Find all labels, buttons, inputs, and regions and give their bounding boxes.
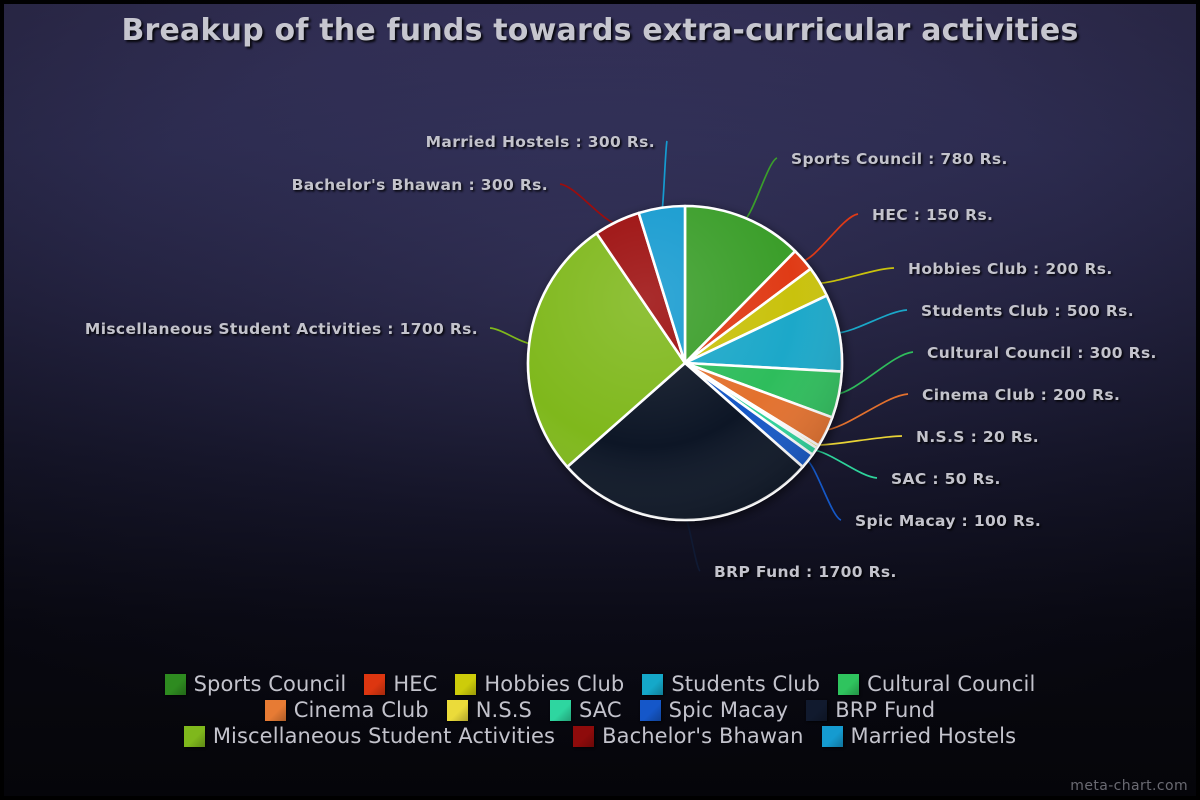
legend-swatch-icon (822, 726, 843, 747)
legend-row: Cinema ClubN.S.SSACSpic MacayBRP Fund (256, 698, 944, 722)
legend-item[interactable]: N.S.S (447, 698, 532, 722)
slice-label: Bachelor's Bhawan : 300 Rs. (0, 176, 548, 194)
legend-swatch-icon (165, 674, 186, 695)
legend-swatch-icon (550, 700, 571, 721)
legend-item[interactable]: Cinema Club (265, 698, 429, 722)
slice-label: N.S.S : 20 Rs. (916, 428, 1039, 446)
legend-label: Cultural Council (867, 672, 1035, 696)
legend-swatch-icon (447, 700, 468, 721)
legend-item[interactable]: Sports Council (165, 672, 347, 696)
leader-line (836, 310, 907, 333)
chart-legend: Sports CouncilHECHobbies ClubStudents Cl… (0, 672, 1200, 748)
slice-label: BRP Fund : 1700 Rs. (714, 563, 897, 581)
leader-line (801, 214, 858, 262)
legend-swatch-icon (364, 674, 385, 695)
legend-label: N.S.S (476, 698, 532, 722)
slice-label: Sports Council : 780 Rs. (791, 150, 1008, 168)
slice-label: Students Club : 500 Rs. (921, 302, 1134, 320)
slice-label: Miscellaneous Student Activities : 1700 … (0, 320, 478, 338)
leader-line (817, 268, 894, 283)
leader-line (490, 328, 532, 344)
legend-item[interactable]: HEC (364, 672, 437, 696)
legend-row: Miscellaneous Student ActivitiesBachelor… (175, 724, 1025, 748)
leader-line (743, 158, 777, 221)
pie-slices (528, 206, 842, 520)
leader-line (560, 184, 618, 224)
legend-item[interactable]: Married Hostels (822, 724, 1017, 748)
leader-line (805, 459, 841, 520)
legend-swatch-icon (265, 700, 286, 721)
legend-label: BRP Fund (835, 698, 935, 722)
legend-label: Sports Council (194, 672, 347, 696)
legend-label: Spic Macay (669, 698, 789, 722)
legend-label: SAC (579, 698, 622, 722)
leader-line (662, 141, 667, 211)
legend-item[interactable]: Miscellaneous Student Activities (184, 724, 555, 748)
legend-item[interactable]: SAC (550, 698, 622, 722)
leader-line (812, 450, 877, 478)
slice-label: Married Hostels : 300 Rs. (0, 133, 655, 151)
legend-swatch-icon (640, 700, 661, 721)
legend-item[interactable]: Students Club (642, 672, 820, 696)
legend-label: Students Club (671, 672, 820, 696)
watermark: meta-chart.com (1070, 778, 1188, 794)
pie-chart-figure: Breakup of the funds towards extra-curri… (0, 0, 1200, 800)
legend-label: Miscellaneous Student Activities (213, 724, 555, 748)
legend-label: Hobbies Club (484, 672, 624, 696)
legend-label: HEC (393, 672, 437, 696)
legend-item[interactable]: BRP Fund (806, 698, 935, 722)
legend-swatch-icon (573, 726, 594, 747)
slice-label: Cultural Council : 300 Rs. (927, 344, 1157, 362)
legend-swatch-icon (838, 674, 859, 695)
legend-row: Sports CouncilHECHobbies ClubStudents Cl… (156, 672, 1045, 696)
leader-line (836, 352, 913, 394)
slice-label: HEC : 150 Rs. (872, 206, 993, 224)
slice-label: SAC : 50 Rs. (891, 470, 1001, 488)
slice-label: Spic Macay : 100 Rs. (855, 512, 1041, 530)
legend-label: Bachelor's Bhawan (602, 724, 803, 748)
leader-line (685, 517, 700, 571)
legend-swatch-icon (806, 700, 827, 721)
legend-item[interactable]: Cultural Council (838, 672, 1035, 696)
legend-swatch-icon (455, 674, 476, 695)
legend-item[interactable]: Bachelor's Bhawan (573, 724, 803, 748)
legend-item[interactable]: Spic Macay (640, 698, 789, 722)
legend-swatch-icon (642, 674, 663, 695)
legend-swatch-icon (184, 726, 205, 747)
slice-label: Cinema Club : 200 Rs. (922, 386, 1120, 404)
slice-label: Hobbies Club : 200 Rs. (908, 260, 1113, 278)
leader-line (815, 436, 902, 445)
legend-item[interactable]: Hobbies Club (455, 672, 624, 696)
legend-label: Married Hostels (851, 724, 1017, 748)
legend-label: Cinema Club (294, 698, 429, 722)
